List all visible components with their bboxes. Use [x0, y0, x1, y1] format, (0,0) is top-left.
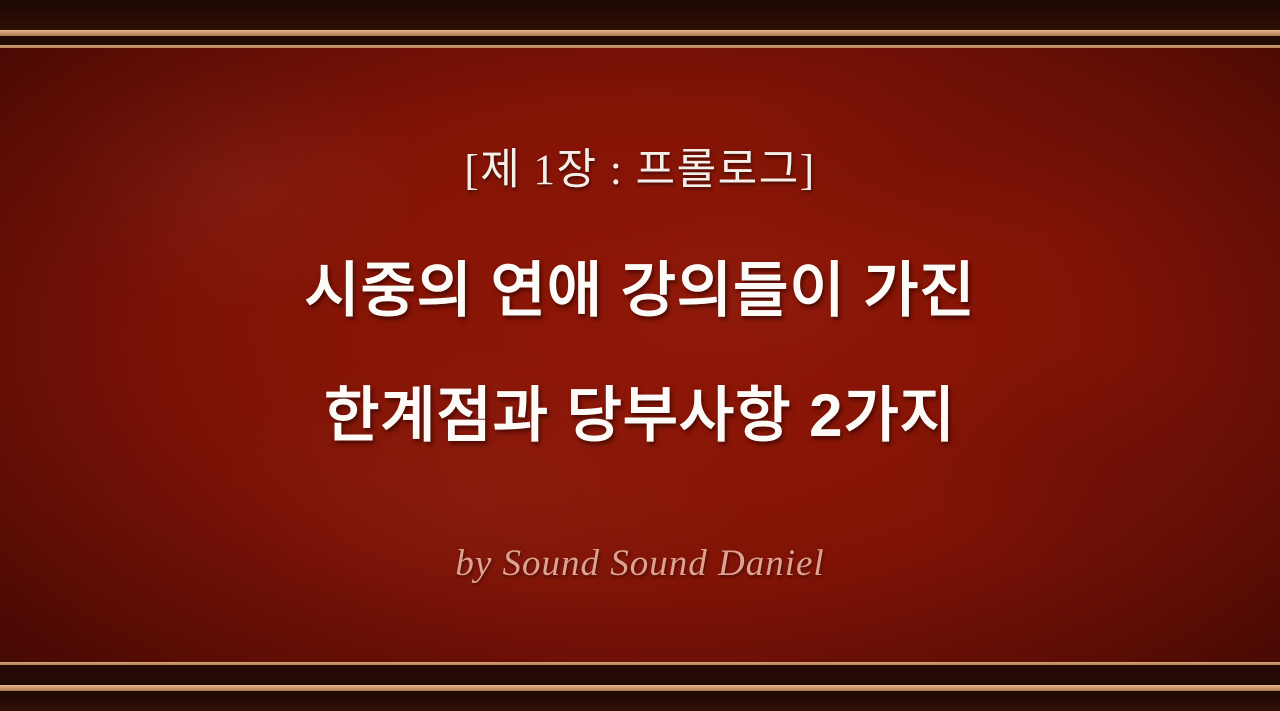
chapter-label: [제 1장 : 프롤로그]: [464, 135, 815, 197]
author-byline: by Sound Sound Daniel: [455, 542, 824, 585]
title-line-1: 시중의 연애 강의들이 가진: [304, 242, 975, 329]
slide-content: [제 1장 : 프롤로그] 시중의 연애 강의들이 가진 한계점과 당부사항 2…: [0, 0, 1280, 711]
title-slide: [제 1장 : 프롤로그] 시중의 연애 강의들이 가진 한계점과 당부사항 2…: [0, 0, 1280, 711]
title-line-2: 한계점과 당부사항 2가지: [324, 367, 956, 454]
